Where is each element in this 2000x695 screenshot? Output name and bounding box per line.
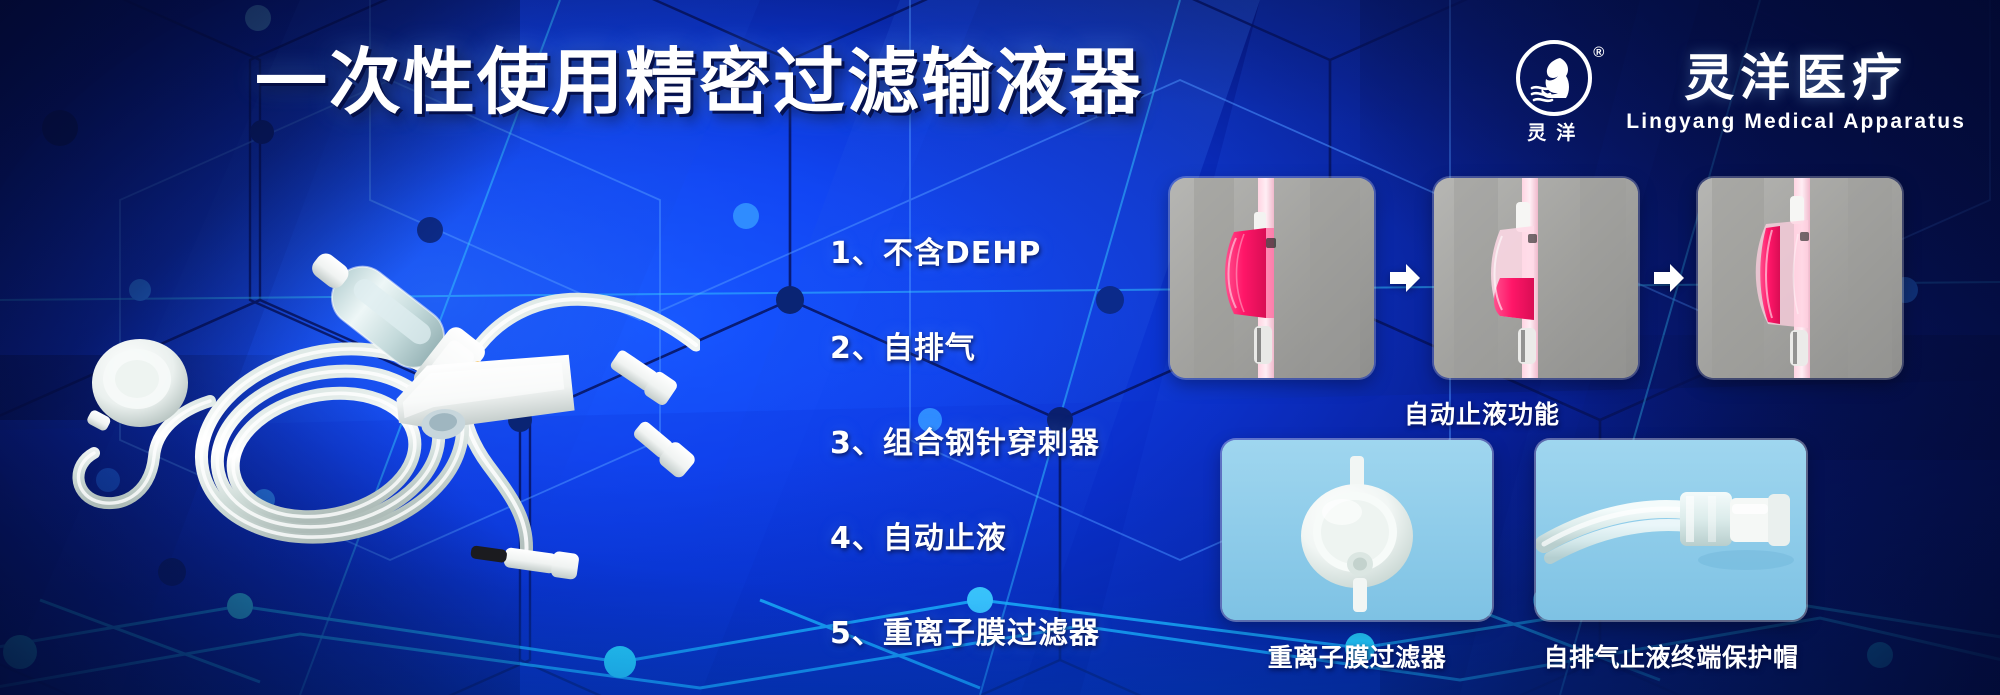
brand-logo: ® 灵洋 灵洋医疗 Lingyang Medical Apparatus — [1508, 38, 1966, 148]
registered-trademark-icon: ® — [1593, 44, 1604, 61]
sequence-arrow-1-icon — [1374, 258, 1434, 298]
company-name-cn: 灵洋医疗 — [1684, 52, 1908, 105]
emblem-caption: 灵洋 — [1508, 118, 1604, 145]
cap-caption: 自排气止液终端保护帽 — [1506, 638, 1836, 674]
feature-item-1: 1、不含DEHP — [830, 228, 1224, 272]
auto-stop-photo-3 — [1698, 178, 1902, 378]
auto-stop-sequence — [1170, 178, 1902, 378]
hero-product-image — [60, 165, 700, 585]
auto-stop-caption: 自动止液功能 — [1170, 395, 1794, 431]
self-venting-cap-photo — [1536, 440, 1806, 620]
emblem-circle — [1516, 40, 1592, 116]
infusion-set-illustration — [60, 165, 700, 585]
feature-item-5: 5、重离子膜过滤器 — [830, 608, 1224, 652]
component-panels — [1222, 440, 1806, 620]
auto-stop-photo-2 — [1434, 178, 1638, 378]
auto-stop-step-1-photo — [1170, 178, 1374, 378]
feature-list: 1、不含DEHP 2、自排气 3、组合钢针穿刺器 4、自动止液 5、重离子膜过滤… — [830, 228, 1224, 695]
feature-item-4: 4、自动止液 — [830, 513, 1224, 557]
component-captions: 重离子膜过滤器 自排气止液终端保护帽 — [1222, 638, 1836, 674]
filter-illustration — [1222, 440, 1492, 620]
filter-caption: 重离子膜过滤器 — [1222, 638, 1492, 674]
lingyang-emblem-icon: ® 灵洋 — [1508, 38, 1604, 148]
wave-spirit-glyph — [1522, 46, 1586, 110]
heavy-ion-membrane-filter-photo — [1222, 440, 1492, 620]
auto-stop-step-2-photo — [1434, 178, 1638, 378]
feature-item-2: 2、自排气 — [830, 323, 1224, 367]
feature-item-3: 3、组合钢针穿刺器 — [830, 418, 1224, 462]
auto-stop-photo-1 — [1170, 178, 1374, 378]
brand-name-block: 灵洋医疗 Lingyang Medical Apparatus — [1626, 52, 1966, 134]
terminal-cap-illustration — [1536, 440, 1806, 620]
sequence-arrow-2-icon — [1638, 258, 1698, 298]
auto-stop-step-3-photo — [1698, 178, 1902, 378]
banner-canvas: 一次性使用精密过滤输液器 ® 灵洋 灵洋医疗 Lingyang Medical … — [0, 0, 2000, 695]
banner-title: 一次性使用精密过滤输液器 — [255, 46, 1143, 118]
company-name-en: Lingyang Medical Apparatus — [1626, 110, 1966, 134]
